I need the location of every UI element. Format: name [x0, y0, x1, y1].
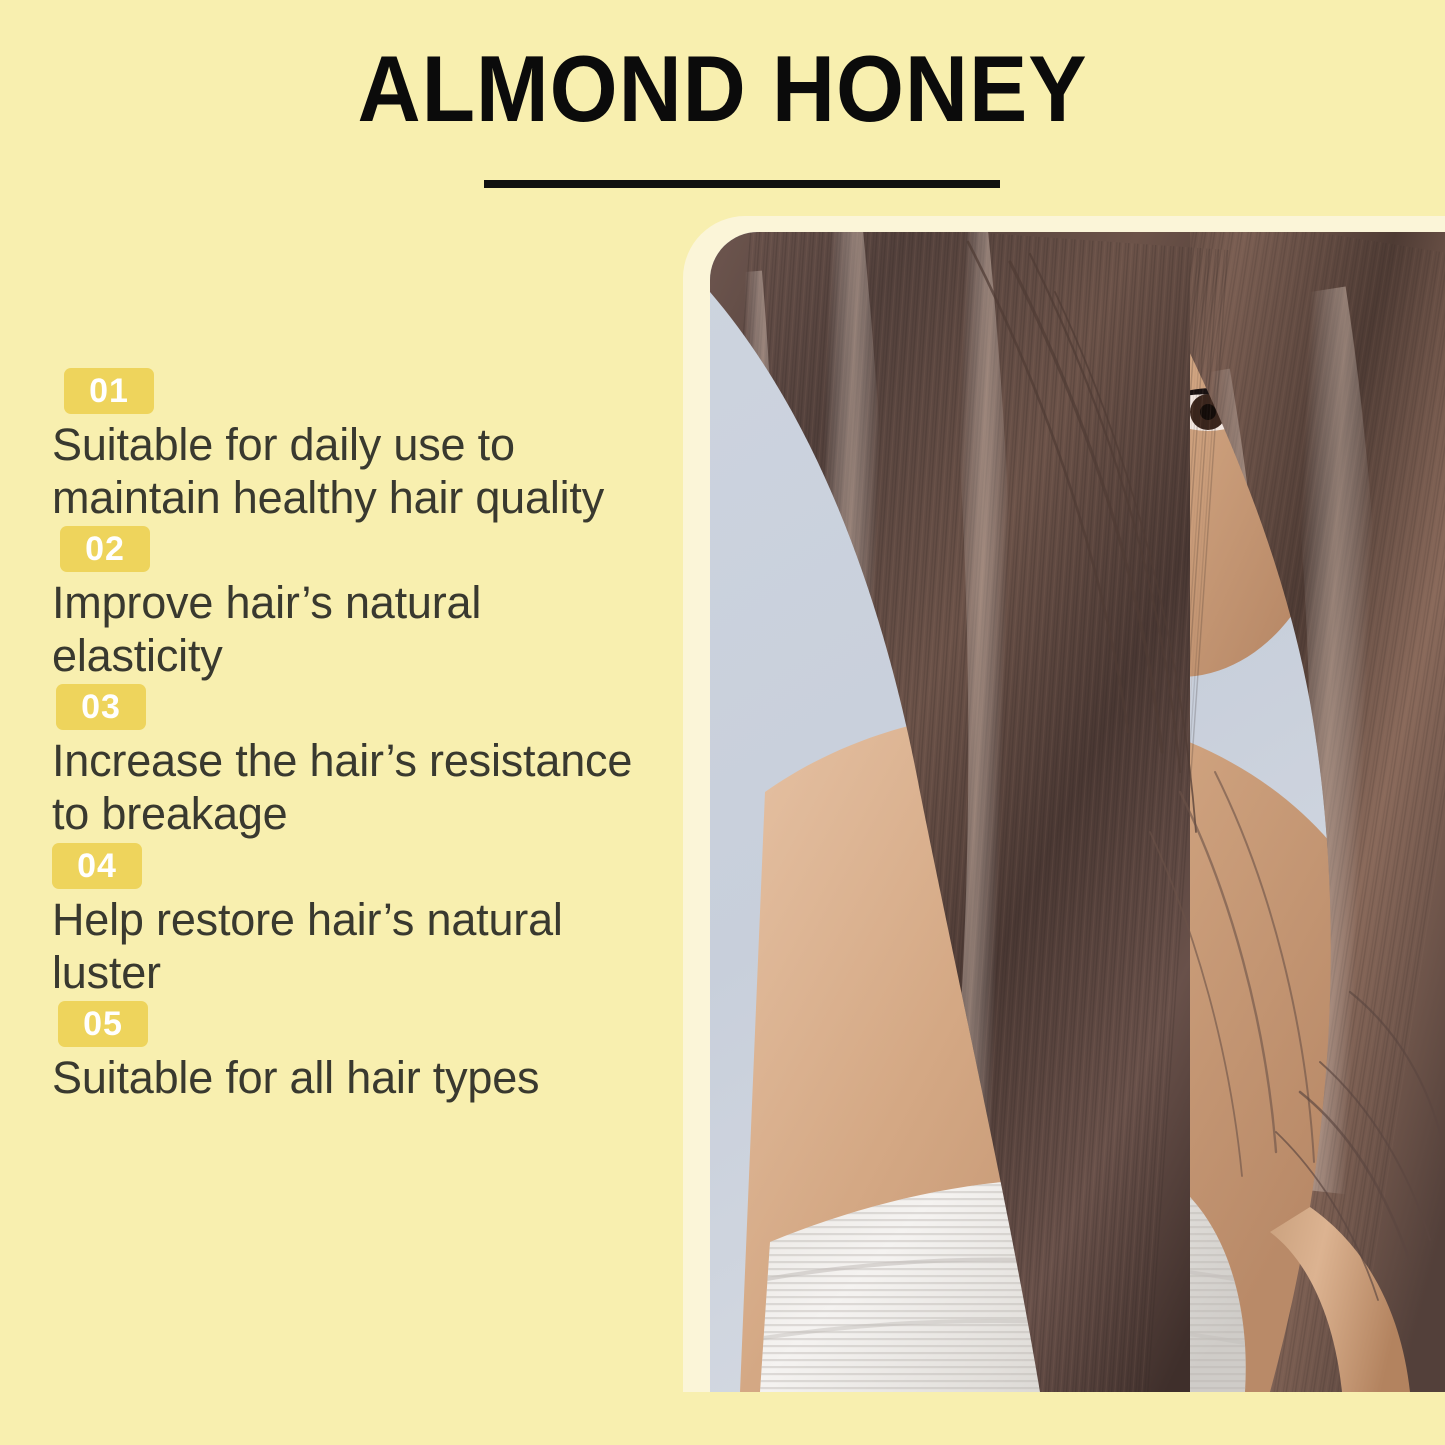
feature-number-badge: 03 [56, 684, 146, 730]
feature-number-badge: 05 [58, 1001, 148, 1047]
list-item: 03 Increase the hair’s resistance to bre… [52, 684, 666, 840]
list-item: 02 Improve hair’s natural elasticity [52, 526, 666, 682]
feature-number-badge: 01 [64, 368, 154, 414]
photo-frame [683, 216, 1445, 1392]
model-photo [710, 232, 1445, 1392]
list-item: 01 Suitable for daily use to maintain he… [52, 368, 666, 524]
list-item: 05 Suitable for all hair types [52, 1001, 666, 1104]
feature-number-badge: 02 [60, 526, 150, 572]
feature-text: Increase the hair’s resistance to breaka… [52, 734, 652, 840]
title-underline-rule [484, 180, 1000, 188]
marketing-graphic: ALMOND HONEY 01 Suitable for daily use t… [0, 0, 1445, 1445]
feature-text: Improve hair’s natural elasticity [52, 576, 652, 682]
feature-number-badge: 04 [52, 843, 142, 889]
feature-text: Suitable for all hair types [52, 1051, 652, 1104]
feature-text: Suitable for daily use to maintain healt… [52, 418, 652, 524]
feature-text: Help restore hair’s natural luster [52, 893, 652, 999]
page-title: ALMOND HONEY [51, 42, 1395, 136]
feature-list: 01 Suitable for daily use to maintain he… [52, 368, 666, 1104]
list-item: 04 Help restore hair’s natural luster [52, 843, 666, 999]
